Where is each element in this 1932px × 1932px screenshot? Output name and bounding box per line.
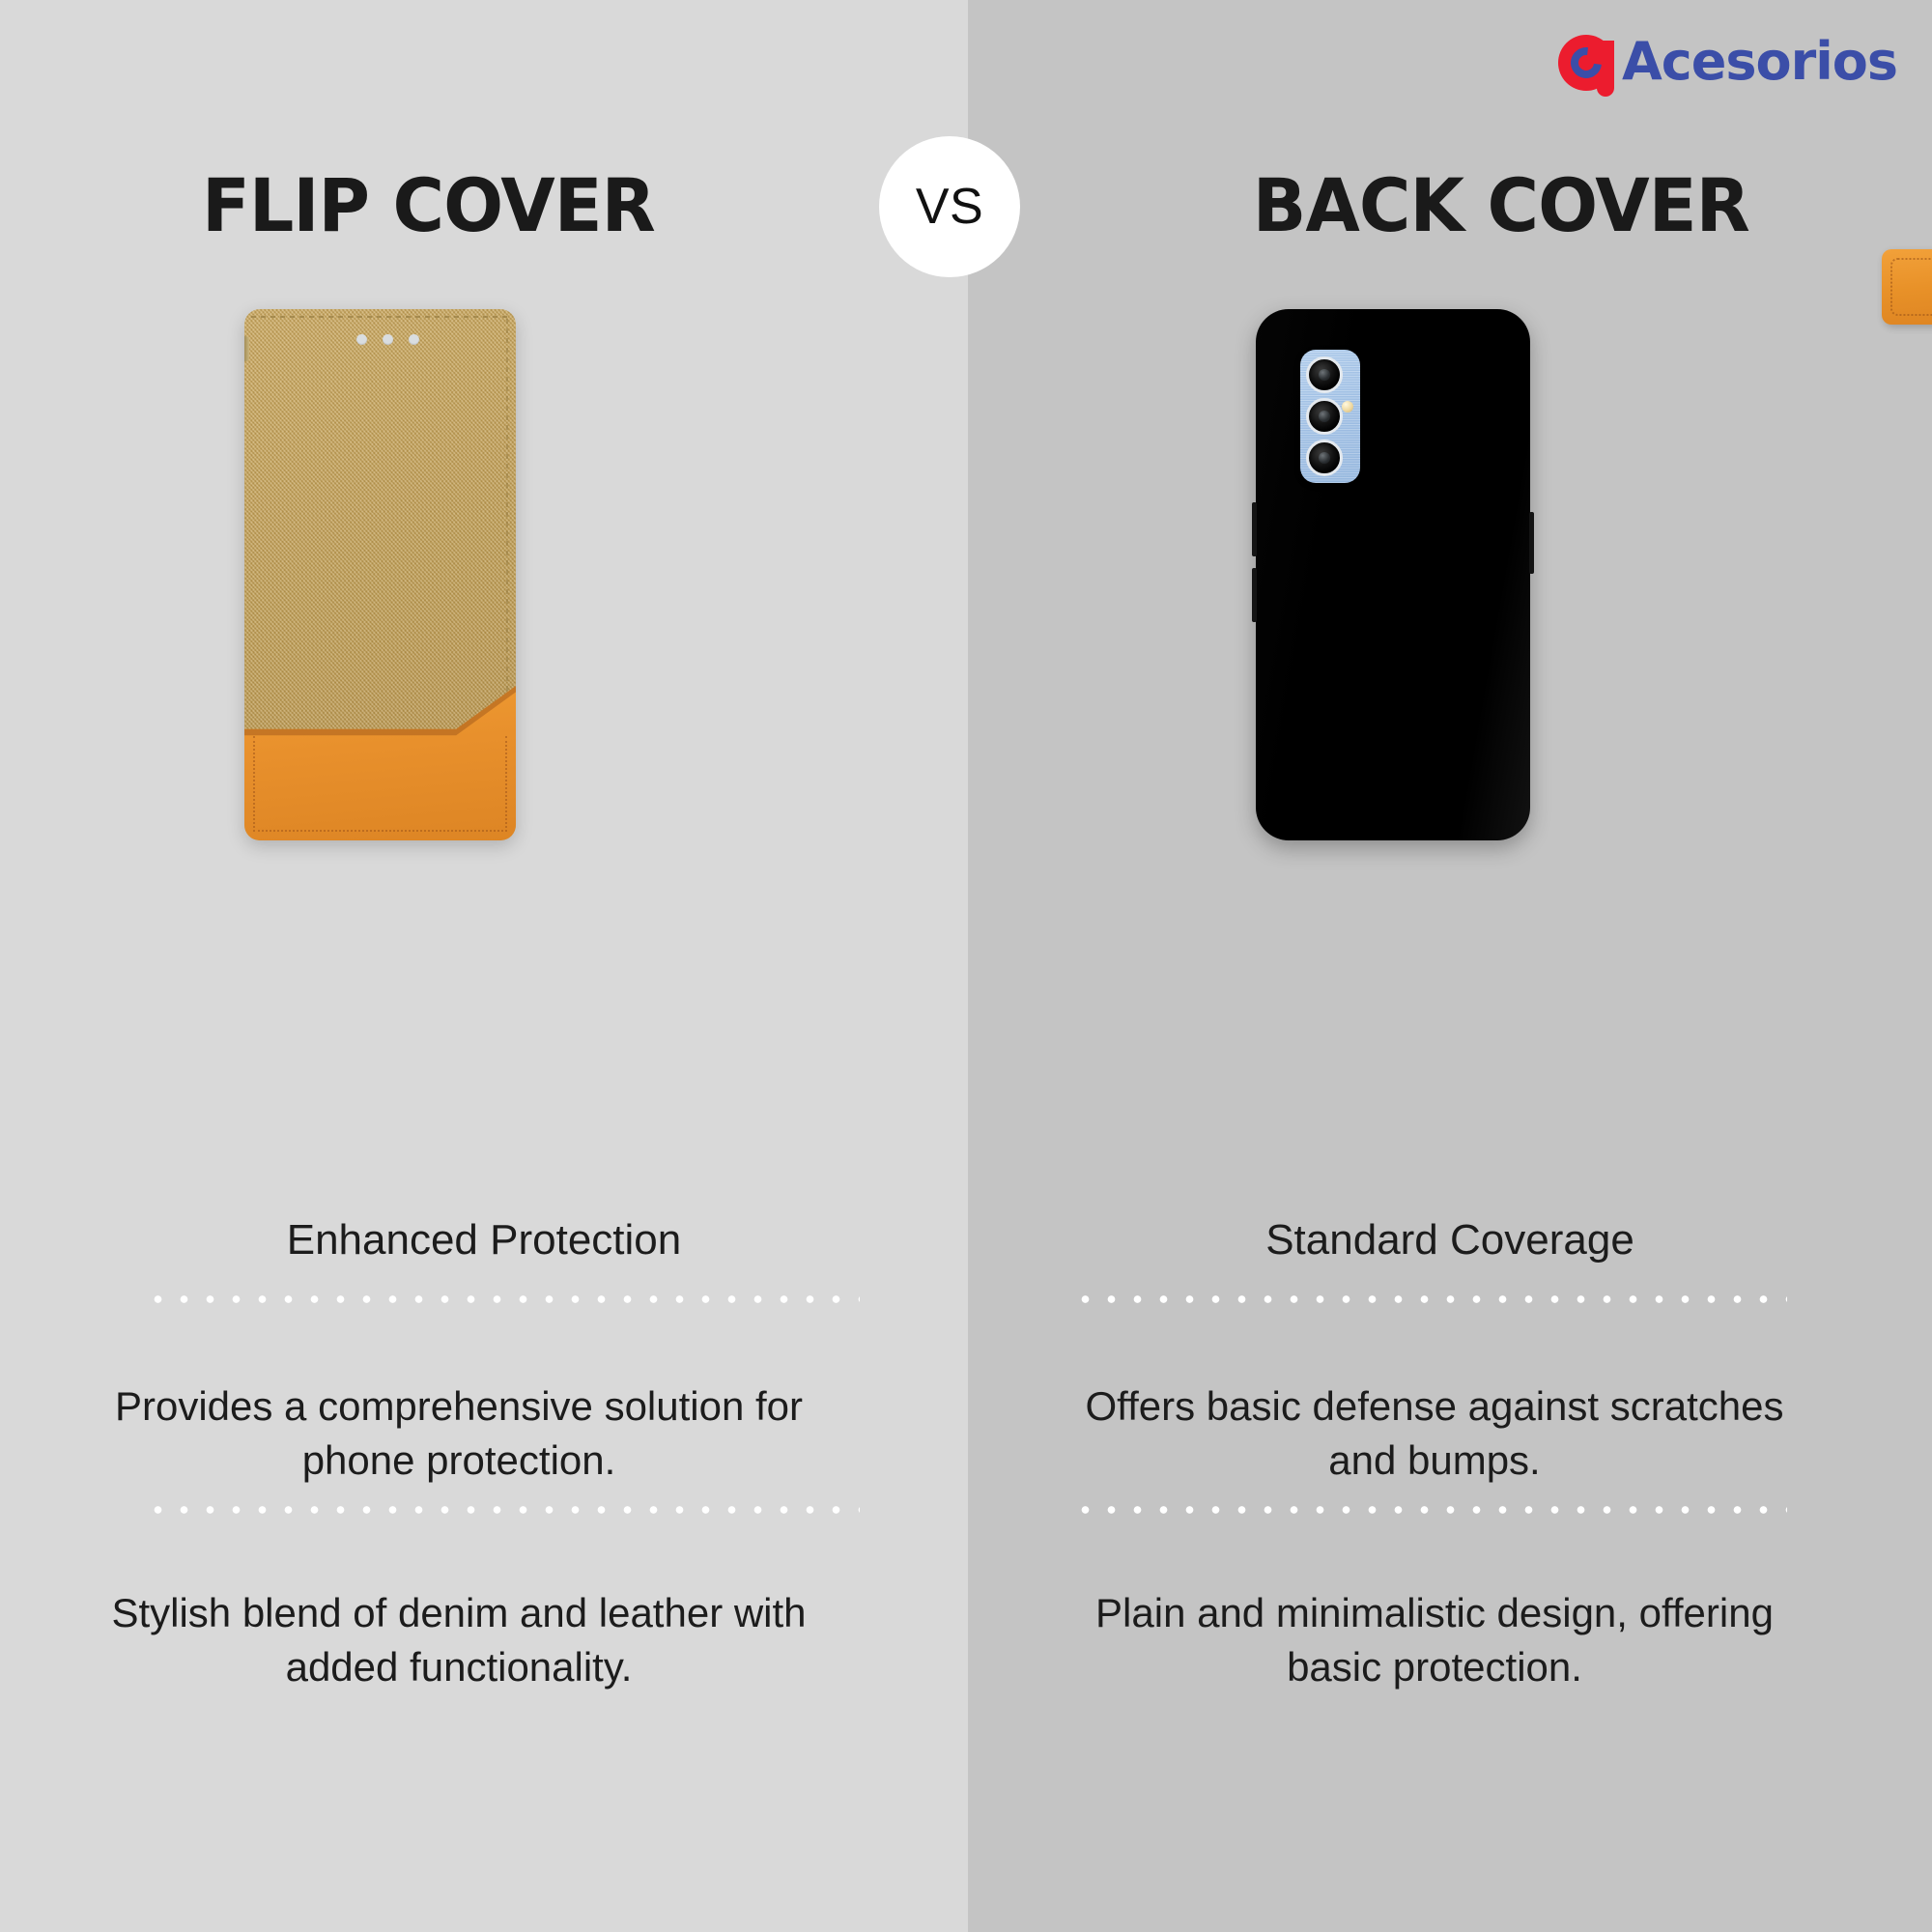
power-button-bump	[1529, 512, 1534, 574]
camera-lens-1	[1306, 356, 1343, 393]
volume-up-button-bump	[1252, 502, 1257, 556]
flip-cover-magnet-dots	[356, 334, 419, 345]
divider-right-2	[1072, 1503, 1787, 1517]
product-image-flip-cover	[244, 309, 516, 840]
comparison-infographic: Acesorios FLIP COVER BACK COVER VS Enhan…	[0, 0, 1932, 1932]
column-title-back-cover: BACK COVER	[987, 162, 1913, 248]
divider-left-1	[145, 1293, 860, 1306]
camera-flash-icon	[1342, 401, 1353, 412]
acesorios-a-icon	[1558, 31, 1620, 93]
flip-cover-magnetic-tab	[1882, 249, 1932, 325]
vs-badge: VS	[879, 136, 1020, 277]
product-image-back-cover	[1256, 309, 1530, 840]
camera-module	[1300, 350, 1360, 483]
camera-lens-3	[1306, 440, 1343, 476]
brand-logo: Acesorios	[1558, 27, 1897, 97]
camera-lens-2	[1306, 398, 1343, 435]
headline-back-cover: Standard Coverage	[968, 1215, 1932, 1266]
volume-down-button-bump	[1252, 568, 1257, 622]
feature-flip-cover-1: Provides a comprehensive solution for ph…	[77, 1379, 840, 1489]
feature-back-cover-2: Plain and minimalistic design, offering …	[1053, 1586, 1816, 1695]
vs-badge-label: VS	[916, 178, 983, 236]
divider-right-1	[1072, 1293, 1787, 1306]
column-title-flip-cover: FLIP COVER	[19, 162, 949, 248]
feature-back-cover-1: Offers basic defense against scratches a…	[1053, 1379, 1816, 1489]
flip-cover-leather-panel	[244, 686, 516, 840]
divider-left-2	[145, 1503, 860, 1517]
headline-flip-cover: Enhanced Protection	[0, 1215, 968, 1266]
brand-name-text: Acesorios	[1622, 36, 1897, 88]
feature-flip-cover-2: Stylish blend of denim and leather with …	[77, 1586, 840, 1695]
flip-cover-top-stitching	[251, 316, 507, 318]
flip-cover-hinge	[244, 336, 249, 361]
